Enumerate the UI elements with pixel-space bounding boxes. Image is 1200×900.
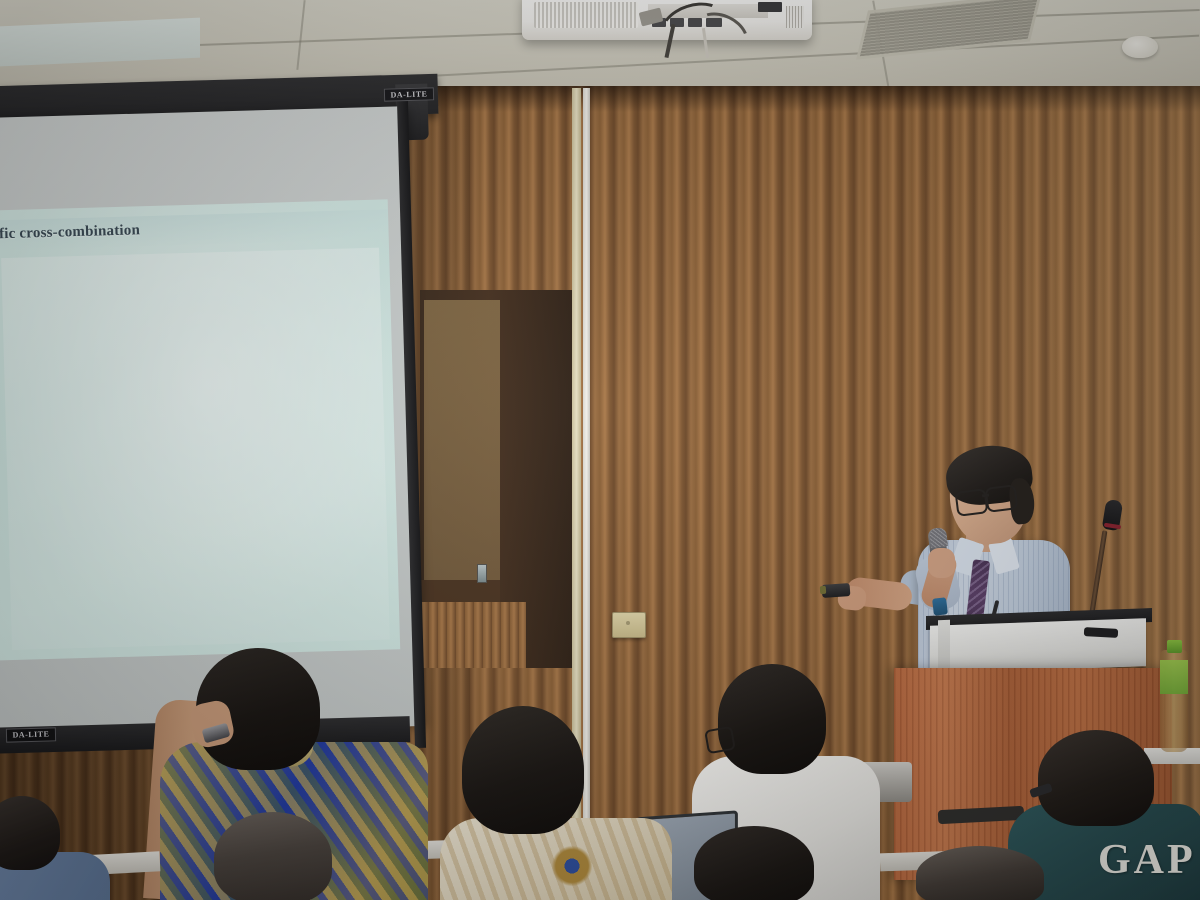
lecture-hall-photo: pecific cross-combination DA-LITE DA-LIT… [0, 0, 1200, 900]
gap-logo-text: GAP [1098, 838, 1200, 882]
glasses-icon [955, 488, 989, 517]
attendee-gap-shirt-head [1038, 730, 1154, 826]
wall-trim-strip [583, 88, 590, 900]
laser-pointer-tip-icon [820, 586, 827, 594]
light-switch[interactable] [477, 564, 487, 583]
alcove-base-trim [420, 580, 500, 602]
slide-content-area [1, 248, 390, 650]
projector-brand-label [758, 2, 782, 12]
glasses-icon [704, 726, 736, 754]
podium-control-panel[interactable] [930, 618, 1146, 674]
projector-vent-icon [534, 2, 638, 28]
podium-side-panel [938, 620, 950, 674]
microphone-base [1084, 627, 1118, 638]
presenter-hand [928, 548, 955, 578]
alcove-panel [424, 300, 500, 600]
attendee-white-tshirt-head [718, 664, 826, 774]
bottle-label [1160, 660, 1188, 694]
wall-outlet-plate[interactable] [612, 612, 646, 638]
microphone-grille-icon [929, 527, 948, 548]
screen-brand-label: DA-LITE [384, 87, 434, 101]
projector-grille-icon [786, 6, 804, 28]
bottle-cap-icon [1167, 640, 1182, 653]
projected-slide: pecific cross-combination [0, 199, 400, 660]
screen-brand-label: DA-LITE [6, 727, 56, 742]
attendee-dark-hair-head [694, 826, 814, 900]
outlet-screw-icon [626, 621, 630, 625]
glasses-icon [985, 484, 1019, 513]
attendee-grey-head [916, 846, 1044, 900]
attendee-batik-cream-head [462, 706, 584, 834]
smoke-detector-icon [1122, 36, 1158, 58]
microphone-band [932, 597, 948, 616]
alcove-slats [420, 602, 526, 668]
attendee-grey-hair-head [214, 812, 332, 900]
batik-motif [548, 842, 596, 890]
